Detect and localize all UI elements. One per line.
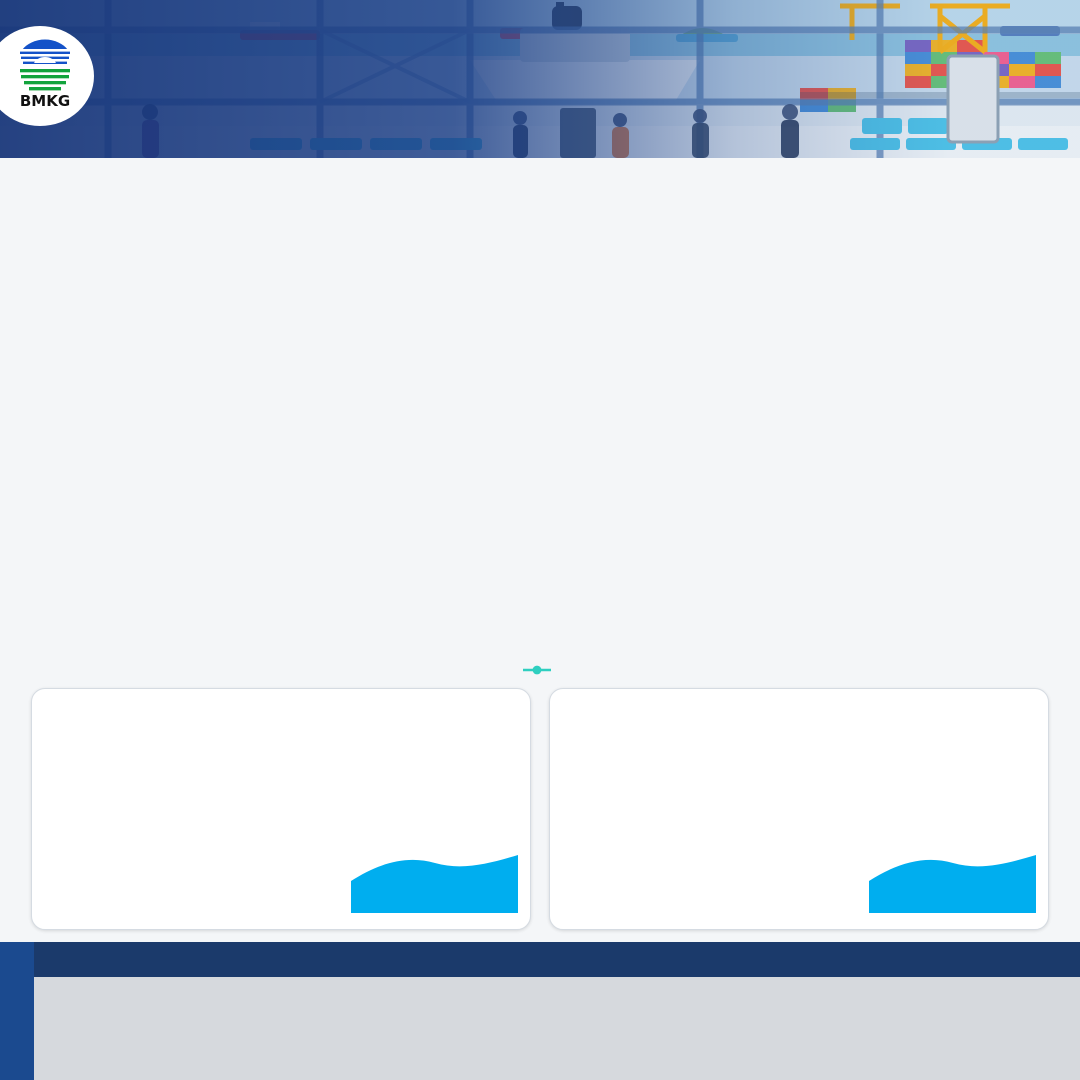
page-header: BMKG [0,0,1080,158]
station-contact [104,33,124,56]
day3-wave-graphic [869,853,1036,913]
header-text-block [104,28,124,56]
header-overlay [0,0,1080,158]
bmkg-logo-icon: BMKG [14,36,76,110]
day3-weather-icon [610,731,720,803]
legend-side-title-bar [0,942,34,1080]
legend-bar [0,942,1080,1080]
chart-legend-swatch [522,664,552,679]
day2-wave-graphic [351,853,518,913]
legend-items [34,977,1080,1080]
svg-text:BMKG: BMKG [20,92,70,110]
validity-line [0,251,1080,271]
chart-legend [0,663,1080,679]
hourly-forecast-cards [30,300,1050,550]
day2-panel [31,688,531,930]
day2-weather-icon [92,731,202,803]
legend-caption [34,942,1080,977]
day3-panel [549,688,1049,930]
